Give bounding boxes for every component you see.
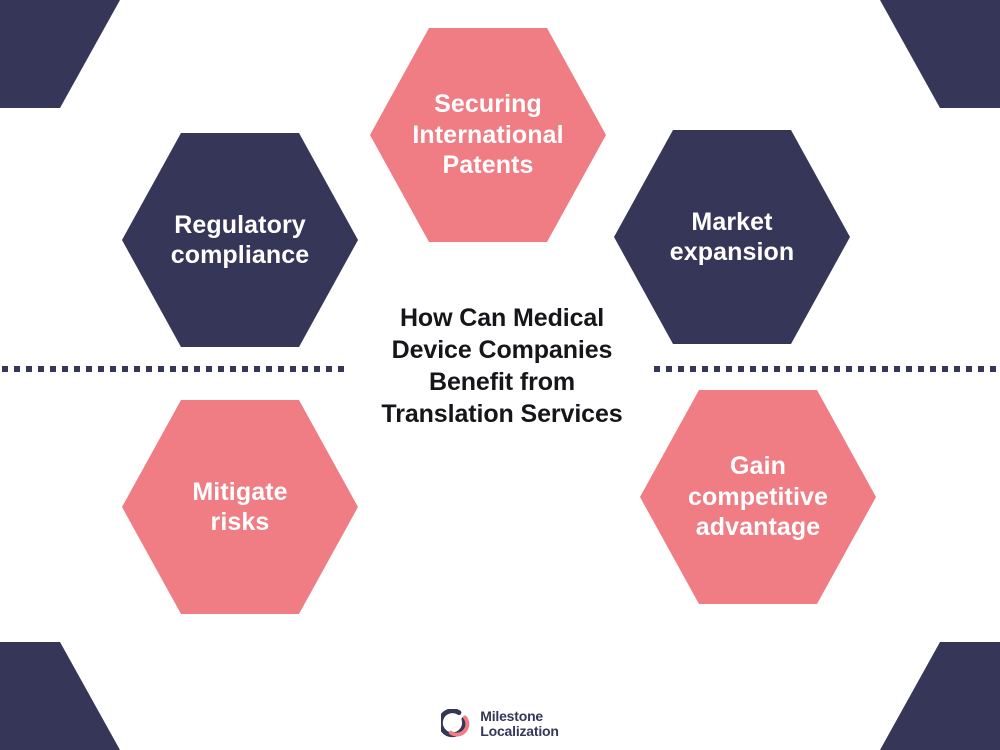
infographic-canvas: Securing International Patents Regulator…: [0, 0, 1000, 750]
hexagon-label-market-expansion: Market expansion: [644, 207, 821, 268]
hex-line: Market: [691, 208, 772, 236]
hex-line: risks: [211, 508, 270, 536]
hex-line: Regulatory: [174, 211, 306, 239]
brand-logo: Milestone Localization: [0, 709, 1000, 740]
hex-line: Securing: [434, 90, 542, 118]
logo-line-2: Localization: [480, 724, 559, 740]
hex-line: advantage: [696, 513, 821, 541]
milestone-circle-icon: [441, 709, 471, 739]
logo-line-1: Milestone: [480, 709, 559, 725]
hex-line: International: [412, 121, 563, 149]
hex-line: Gain: [730, 452, 786, 480]
page-title: How Can Medical Device Companies Benefit…: [352, 302, 652, 430]
dotted-divider-right: [654, 366, 996, 372]
hex-line: expansion: [670, 238, 795, 266]
logo-wordmark: Milestone Localization: [480, 709, 559, 740]
hexagon-mitigate-risks: Mitigate risks: [122, 400, 358, 614]
hex-line: compliance: [171, 241, 310, 269]
hex-line: Patents: [442, 151, 533, 179]
hexagon-gain-competitive-advantage: Gain competitive advantage: [640, 390, 876, 604]
hexagon-label-regulatory-compliance: Regulatory compliance: [145, 210, 336, 271]
hexagon-securing-international-patents: Securing International Patents: [370, 28, 606, 242]
hexagon-label-gain-competitive-advantage: Gain competitive advantage: [662, 451, 854, 543]
hexagon-label-mitigate-risks: Mitigate risks: [166, 477, 313, 538]
title-line: Benefit from: [429, 368, 575, 396]
corner-hexagon-top-left: [0, 0, 120, 108]
title-line: Device Companies: [392, 336, 613, 364]
title-line: How Can Medical: [400, 304, 604, 332]
dotted-divider-left: [2, 366, 346, 372]
hex-line: Mitigate: [192, 478, 287, 506]
hexagon-label-securing-international-patents: Securing International Patents: [386, 89, 589, 181]
hex-line: competitive: [688, 483, 828, 511]
title-line: Translation Services: [381, 400, 622, 428]
hexagon-regulatory-compliance: Regulatory compliance: [122, 133, 358, 347]
corner-hexagon-top-right: [880, 0, 1000, 108]
